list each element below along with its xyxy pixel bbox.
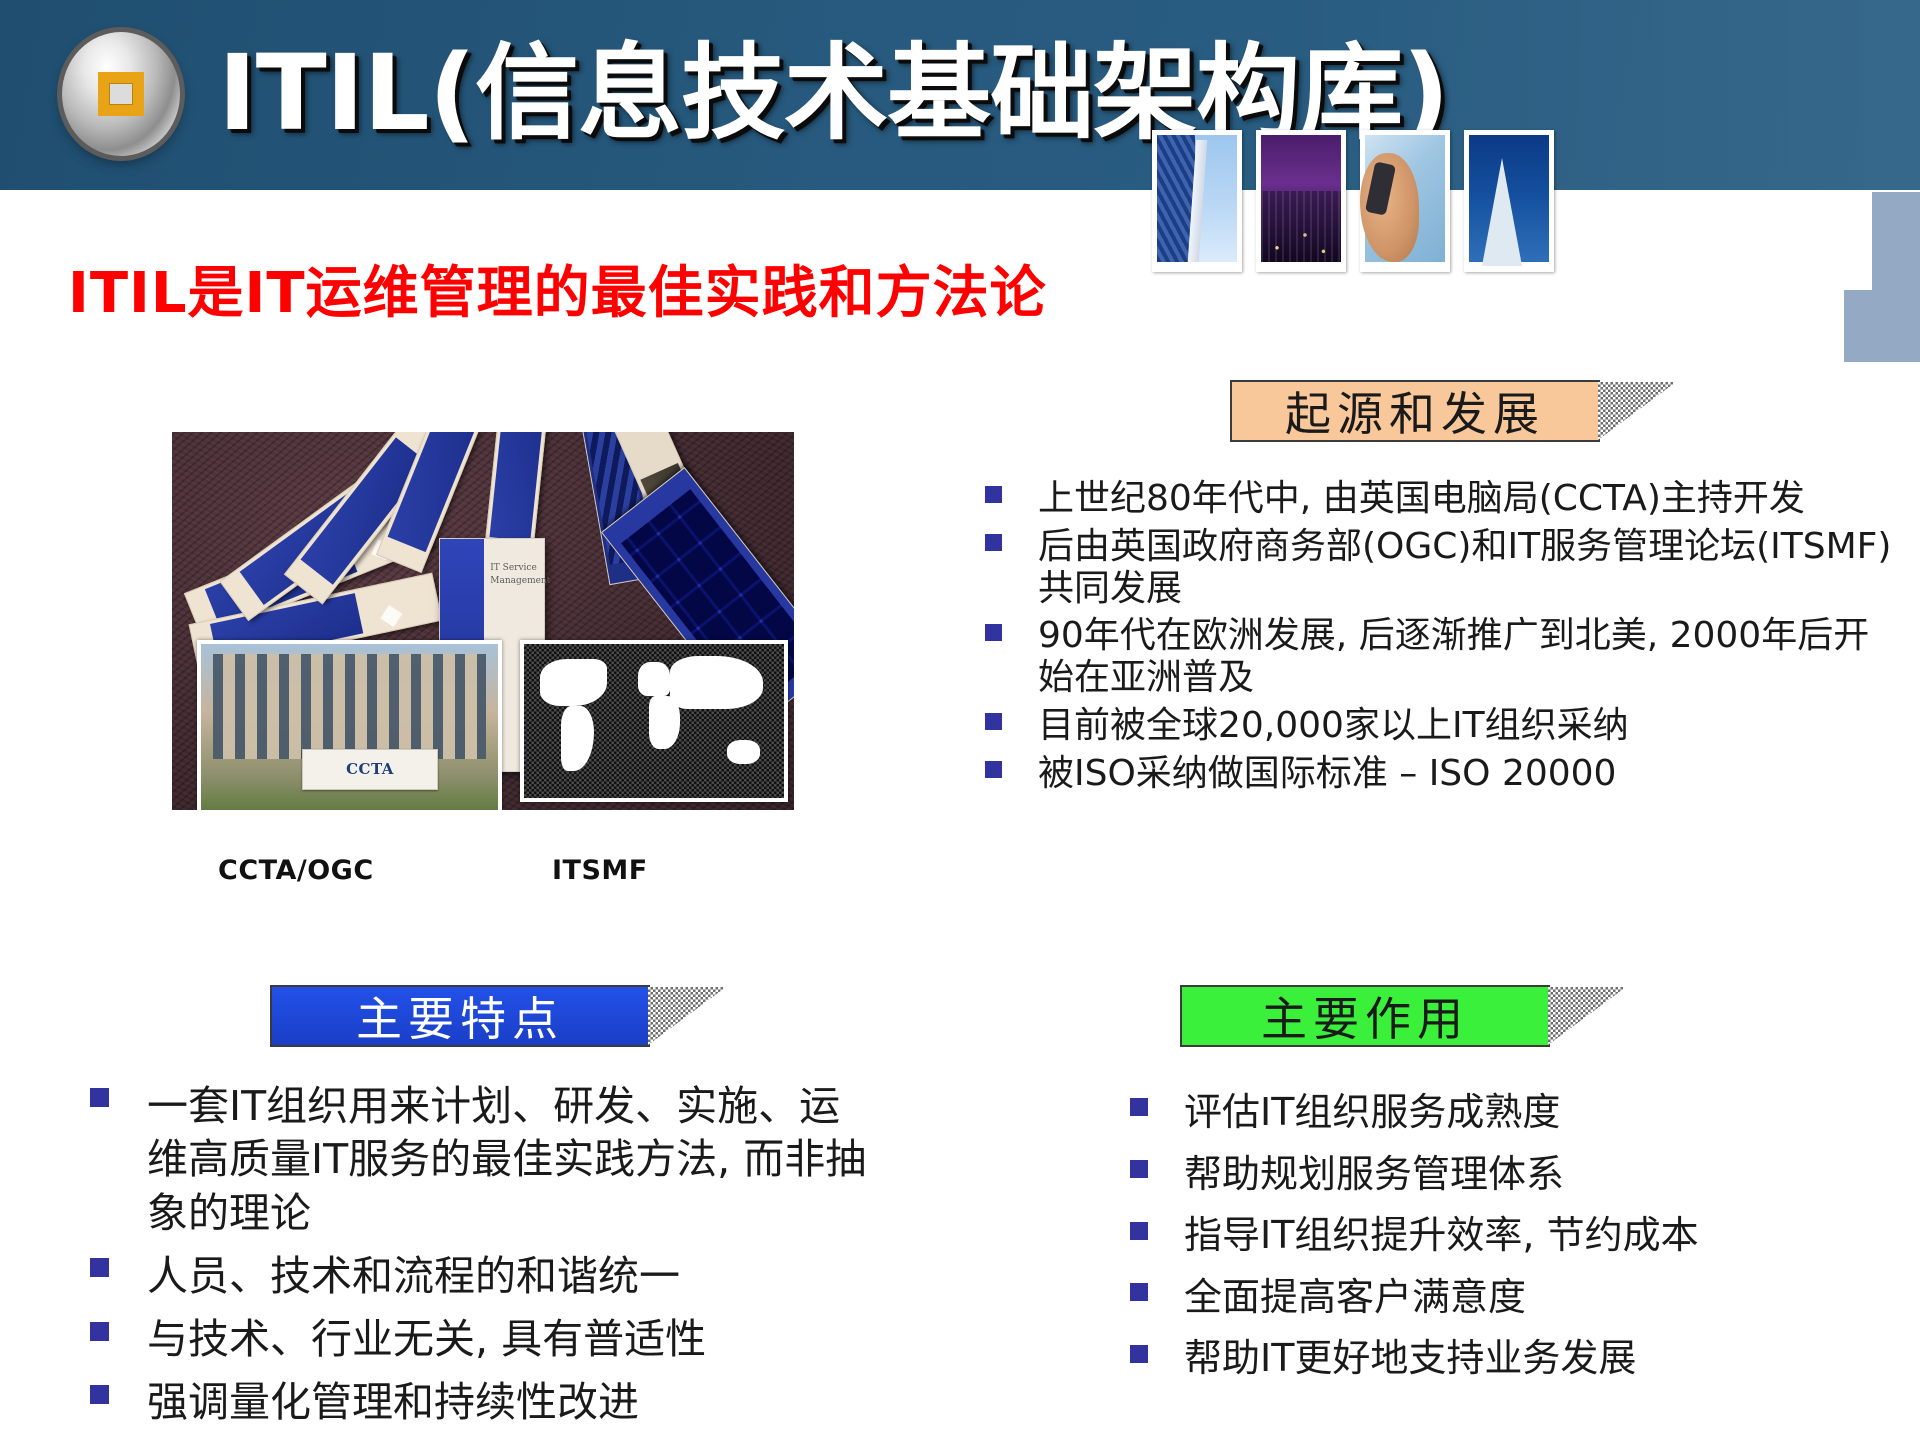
list-item-label: 人员、技术和流程的和谐统一 [147, 1250, 680, 1303]
logo-inner-square [98, 72, 144, 116]
bullet-marker-icon [1130, 1345, 1148, 1363]
bullet-marker-icon [90, 1258, 109, 1277]
list-item: 人员、技术和流程的和谐统一 [90, 1250, 880, 1303]
list-item: 90年代在欧洲发展, 后逐渐推广到北美, 2000年后开始在亚洲普及 [985, 615, 1905, 699]
bullet-marker-icon [1130, 1160, 1148, 1178]
list-item: 帮助IT更好地支持业务发展 [1130, 1336, 1890, 1382]
list-item: 全面提高客户满意度 [1130, 1275, 1890, 1321]
list-item-label: 一套IT组织用来计划、研发、实施、运维高质量IT服务的最佳实践方法, 而非抽象的… [147, 1080, 880, 1240]
section-banner-features: 主要特点 [270, 985, 650, 1047]
list-item-label: 后由英国政府商务部(OGC)和IT服务管理论坛(ITSMF)共同发展 [1038, 526, 1905, 610]
list-item: 一套IT组织用来计划、研发、实施、运维高质量IT服务的最佳实践方法, 而非抽象的… [90, 1080, 880, 1240]
list-item: 上世纪80年代中, 由英国电脑局(CCTA)主持开发 [985, 478, 1905, 520]
list-item: 后由英国政府商务部(OGC)和IT服务管理论坛(ITSMF)共同发展 [985, 526, 1905, 610]
caption-ccta-ogc: CCTA/OGC [218, 855, 374, 886]
bullet-marker-icon [985, 486, 1002, 503]
list-item: 目前被全球20,000家以上IT组织采纳 [985, 705, 1905, 747]
bullet-marker-icon [90, 1322, 109, 1341]
bullet-marker-icon [985, 534, 1002, 551]
square-badge-icon [62, 32, 180, 156]
bullet-list-features: 一套IT组织用来计划、研发、实施、运维高质量IT服务的最佳实践方法, 而非抽象的… [90, 1080, 880, 1440]
section-banner-roles: 主要作用 [1180, 985, 1550, 1047]
section-banner-roles-label: 主要作用 [1261, 983, 1469, 1049]
brochure-title-line2: Management [490, 576, 550, 586]
bullet-marker-icon [1130, 1222, 1148, 1240]
glass-tower-photo [1152, 130, 1242, 272]
list-item-label: 全面提高客户满意度 [1184, 1275, 1526, 1321]
bullet-marker-icon [1130, 1098, 1148, 1116]
night-city-photo [1256, 130, 1346, 272]
list-item: 被ISO采纳做国际标准 – ISO 20000 [985, 753, 1905, 795]
list-item-label: 指导IT组织提升效率, 节约成本 [1184, 1213, 1699, 1259]
caption-itsmf: ITSMF [552, 855, 648, 886]
skyscraper-photo [1464, 130, 1554, 272]
bullet-list-origin: 上世纪80年代中, 由英国电脑局(CCTA)主持开发 后由英国政府商务部(OGC… [985, 478, 1905, 800]
bullet-marker-icon [985, 761, 1002, 778]
ccta-building-photo: CCTA [197, 640, 502, 810]
right-accent-block-lower [1844, 290, 1920, 362]
list-item: 帮助规划服务管理体系 [1130, 1152, 1890, 1198]
slide-subtitle: ITIL是IT运维管理的最佳实践和方法论 [68, 248, 1047, 329]
list-item-label: 评估IT组织服务成熟度 [1184, 1090, 1560, 1136]
list-item-label: 目前被全球20,000家以上IT组织采纳 [1038, 705, 1629, 747]
section-banner-origin-label: 起源和发展 [1285, 378, 1545, 444]
list-item-label: 强调量化管理和持续性改进 [147, 1376, 639, 1429]
bullet-marker-icon [1130, 1283, 1148, 1301]
itsmf-world-map [520, 640, 787, 803]
list-item: 与技术、行业无关, 具有普适性 [90, 1313, 880, 1366]
bullet-marker-icon [985, 624, 1002, 641]
section-banner-features-label: 主要特点 [356, 983, 564, 1049]
list-item-label: 上世纪80年代中, 由英国电脑局(CCTA)主持开发 [1038, 478, 1805, 520]
slide-canvas: ITIL(信息技术基础架构库) ITIL是IT运维管理的最佳实践和方法论 IT … [0, 0, 1920, 1440]
banner-shadow-features [648, 987, 726, 1045]
list-item: 评估IT组织服务成熟度 [1130, 1090, 1890, 1136]
bullet-marker-icon [90, 1088, 109, 1107]
banner-shadow-roles [1548, 987, 1626, 1045]
bullet-marker-icon [90, 1385, 109, 1404]
bullet-list-roles: 评估IT组织服务成熟度 帮助规划服务管理体系 指导IT组织提升效率, 节约成本 … [1130, 1090, 1890, 1398]
banner-shadow-origin [1598, 382, 1676, 440]
header-thumbnail-strip [1152, 130, 1554, 272]
list-item-label: 帮助规划服务管理体系 [1184, 1152, 1564, 1198]
brochure-title-line1: IT Service [490, 563, 537, 573]
section-banner-origin: 起源和发展 [1230, 380, 1600, 442]
list-item-label: 帮助IT更好地支持业务发展 [1184, 1336, 1636, 1382]
list-item-label: 与技术、行业无关, 具有普适性 [147, 1313, 706, 1366]
phone-call-photo [1360, 130, 1450, 272]
itil-books-photo: IT Service Management CCTA [172, 432, 794, 810]
list-item: 强调量化管理和持续性改进 [90, 1376, 880, 1429]
bullet-marker-icon [985, 713, 1002, 730]
ccta-sign-text: CCTA [302, 749, 439, 790]
list-item: 指导IT组织提升效率, 节约成本 [1130, 1213, 1890, 1259]
list-item-label: 90年代在欧洲发展, 后逐渐推广到北美, 2000年后开始在亚洲普及 [1038, 615, 1905, 699]
list-item-label: 被ISO采纳做国际标准 – ISO 20000 [1038, 753, 1616, 795]
